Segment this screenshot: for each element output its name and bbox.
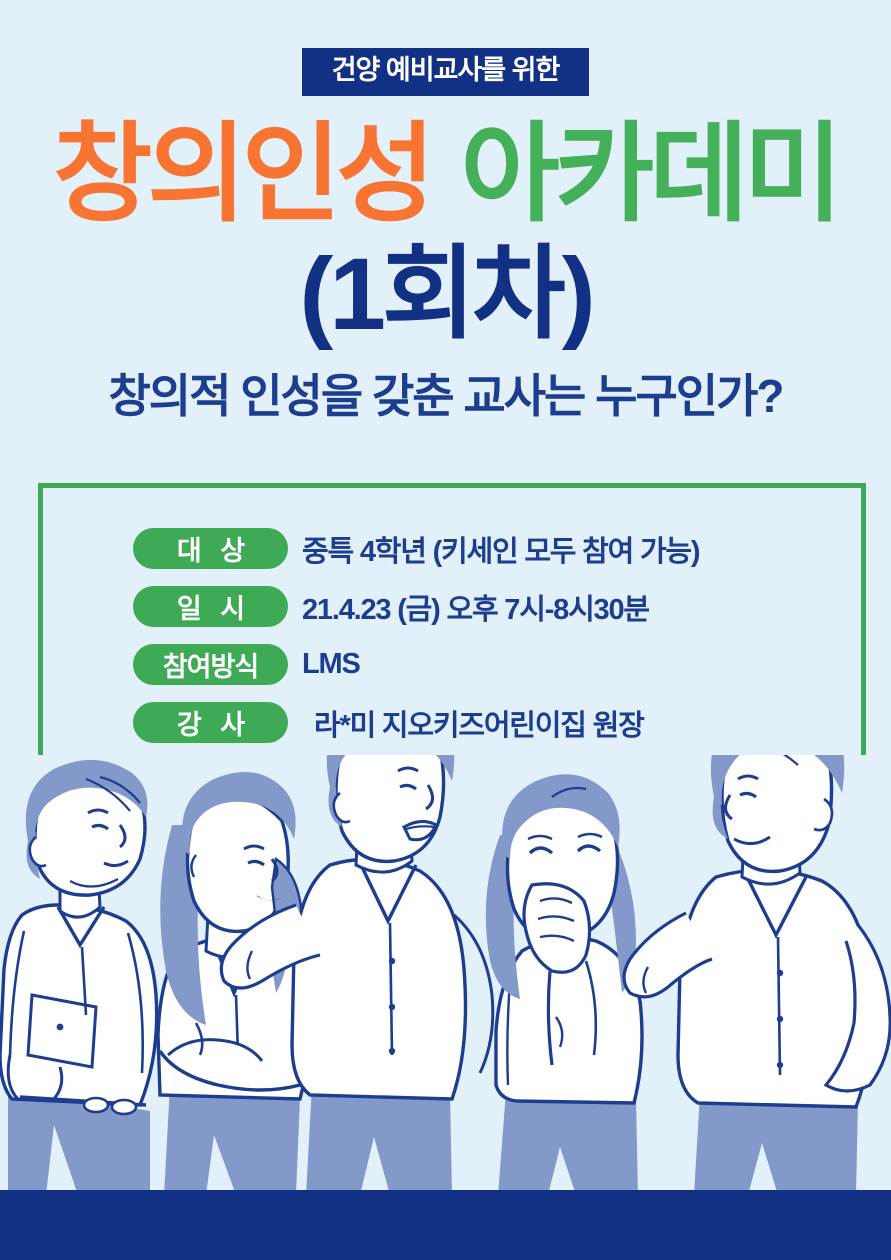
info-row: 대 상 중특 4학년 (키세인 모두 참여 가능) (133, 528, 833, 569)
info-label-lecturer: 강 사 (133, 702, 288, 743)
info-label-target: 대 상 (133, 528, 288, 569)
student-figure-4 (486, 774, 642, 1195)
info-value-datetime: 21.4.23 (금) 오후 7시-8시30분 (302, 586, 649, 628)
info-label-datetime: 일 시 (133, 586, 288, 627)
subheading: 창의적 인성을 갖춘 교사는 누구인가? (0, 373, 891, 419)
info-row: 참여방식 LMS (133, 644, 833, 685)
headline-line-1: 창의인성 아카데미 (0, 120, 891, 228)
top-badge: 건양 예비교사를 위한 (302, 48, 590, 96)
students-illustration-svg (0, 755, 891, 1195)
badge-container: 건양 예비교사를 위한 (0, 48, 891, 96)
info-row: 일 시 21.4.23 (금) 오후 7시-8시30분 (133, 586, 833, 627)
headline-line-2: (1회차) (0, 243, 891, 345)
headline-green-text: 아카데미 (461, 113, 838, 234)
headline-orange-text: 창의인성 (53, 113, 430, 234)
info-label-method: 참여방식 (133, 644, 288, 685)
bottom-navy-bar (0, 1190, 891, 1260)
info-value-lecturer: 라*미 지오키즈어린이집 원장 (314, 702, 644, 744)
info-list: 대 상 중특 4학년 (키세인 모두 참여 가능) 일 시 21.4.23 (금… (133, 528, 833, 760)
students-illustration (0, 755, 891, 1195)
info-value-method: LMS (302, 648, 360, 681)
poster-canvas: 건양 예비교사를 위한 창의인성 아카데미 (1회차) 창의적 인성을 갖춘 교… (0, 0, 891, 1260)
info-value-target: 중특 4학년 (키세인 모두 참여 가능) (302, 528, 699, 570)
info-row: 강 사 라*미 지오키즈어린이집 원장 (133, 702, 833, 743)
